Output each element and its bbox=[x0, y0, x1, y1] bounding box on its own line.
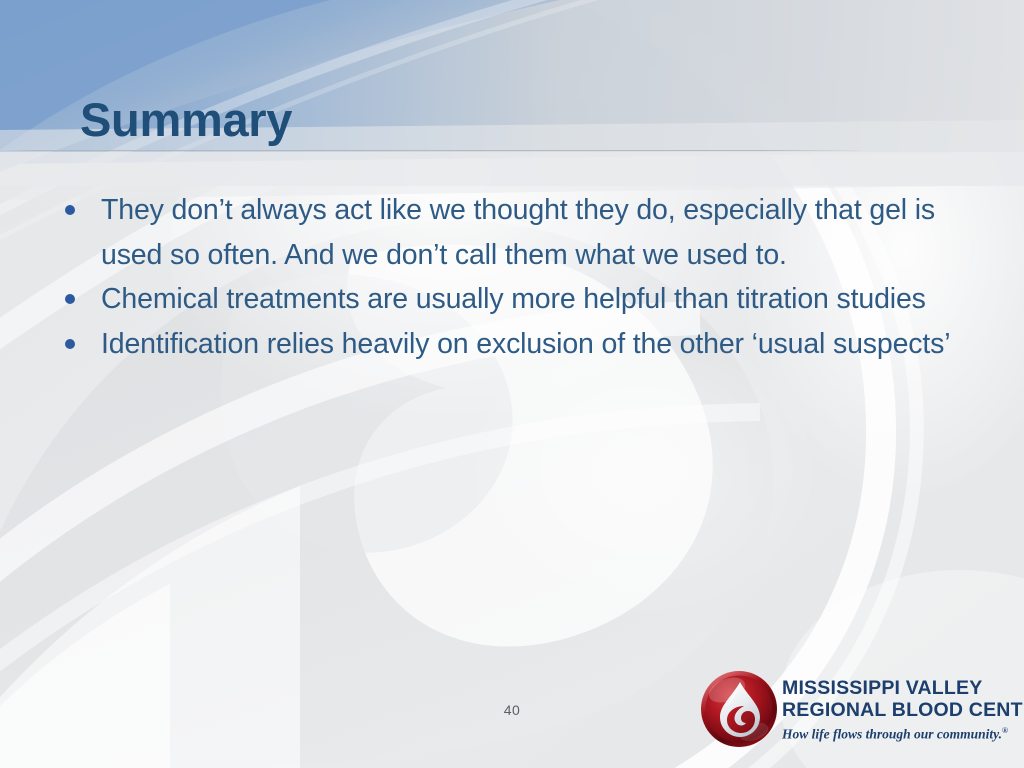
bullet-dot-icon bbox=[65, 205, 75, 215]
logo-line-2: REGIONAL BLOOD CENTER bbox=[782, 699, 1008, 721]
bullet-dot-icon bbox=[65, 339, 75, 349]
blood-drop-icon bbox=[700, 670, 778, 748]
bullet-dot-icon bbox=[65, 294, 75, 304]
title-area: Summary bbox=[0, 96, 1024, 156]
logo-wordmark: MISSISSIPPI VALLEY REGIONAL BLOOD CENTER… bbox=[782, 677, 1008, 743]
list-item-text: Identification relies heavily on exclusi… bbox=[101, 322, 996, 367]
logo-tagline-text: How life flows through our community. bbox=[782, 727, 1002, 742]
title-divider-rule bbox=[0, 150, 860, 151]
list-item: They don’t always act like we thought th… bbox=[56, 188, 996, 277]
bullet-list: They don’t always act like we thought th… bbox=[56, 188, 996, 366]
logo-tagline: How life flows through our community.® bbox=[782, 723, 1008, 743]
list-item: Identification relies heavily on exclusi… bbox=[56, 322, 996, 367]
page-title: Summary bbox=[80, 96, 292, 143]
organization-logo: MISSISSIPPI VALLEY REGIONAL BLOOD CENTER… bbox=[700, 668, 1010, 754]
logo-line-1: MISSISSIPPI VALLEY bbox=[782, 677, 1008, 699]
list-item-text: They don’t always act like we thought th… bbox=[101, 188, 996, 277]
list-item: Chemical treatments are usually more hel… bbox=[56, 277, 996, 322]
list-item-text: Chemical treatments are usually more hel… bbox=[101, 277, 996, 322]
registered-trademark-icon: ® bbox=[1002, 726, 1008, 735]
presentation-slide: Summary They don’t always act like we th… bbox=[0, 0, 1024, 768]
